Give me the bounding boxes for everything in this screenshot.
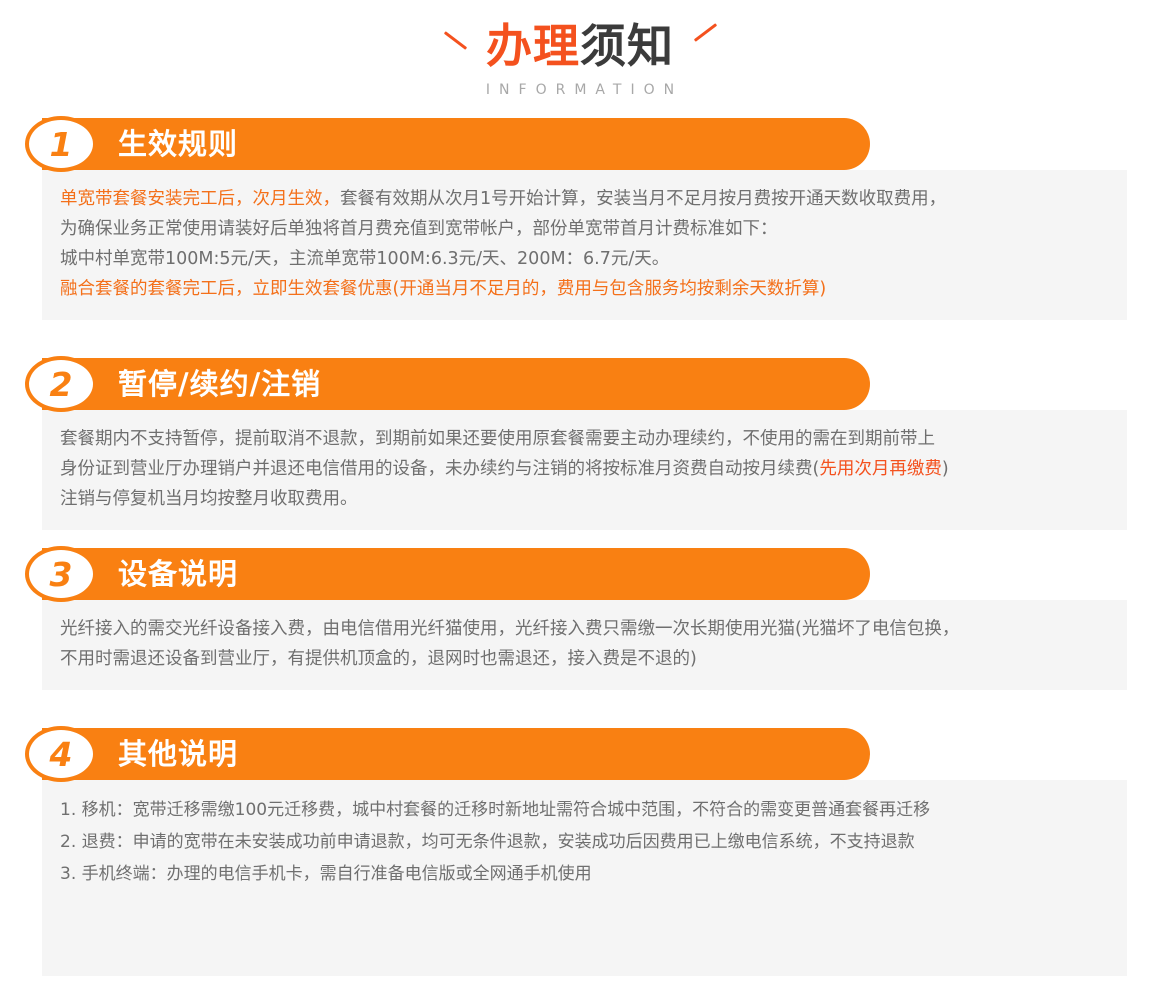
- section-gap: [0, 690, 1160, 728]
- body-line: 1. 移机：宽带迁移需缴100元迁移费，城中村套餐的迁移时新地址需符合城中范围，…: [60, 794, 1109, 826]
- section-body: 光纤接入的需交光纤设备接入费，由电信借用光纤猫使用，光纤接入费只需缴一次长期使用…: [42, 600, 1127, 690]
- body-line: 注销与停复机当月均按整月收取费用。: [60, 484, 1109, 514]
- body-text: 注销与停复机当月均按整月收取费用。: [60, 489, 358, 509]
- body-text: 光纤接入的需交光纤设备接入费，由电信借用光纤猫使用，光纤接入费只需缴一次长期使用…: [60, 619, 959, 639]
- body-text: ): [942, 459, 949, 479]
- section-gap: [0, 530, 1160, 548]
- body-text-highlight: 融合套餐的套餐完工后，立即生效套餐优惠(开通当月不足月的，费用与包含服务均按剩余…: [60, 279, 826, 299]
- slash-right-icon: [688, 29, 722, 63]
- section-header-2: 2暂停/续约/注销: [0, 358, 1160, 410]
- body-line: 套餐期内不支持暂停，提前取消不退款，到期前如果还要使用原套餐需要主动办理续约，不…: [60, 424, 1109, 454]
- body-line: 3. 手机终端：办理的电信手机卡，需自行准备电信版或全网通手机使用: [60, 858, 1109, 890]
- body-text: 3. 手机终端：办理的电信手机卡，需自行准备电信版或全网通手机使用: [60, 864, 592, 884]
- section-header-3: 3设备说明: [0, 548, 1160, 600]
- section-body: 1. 移机：宽带迁移需缴100元迁移费，城中村套餐的迁移时新地址需符合城中范围，…: [42, 780, 1127, 976]
- section-4: 4其他说明1. 移机：宽带迁移需缴100元迁移费，城中村套餐的迁移时新地址需符合…: [0, 728, 1160, 976]
- section-number: 3: [50, 558, 73, 591]
- section-number: 2: [50, 368, 73, 401]
- body-line: 单宽带套餐安装完工后，次月生效，套餐有效期从次月1号开始计算，安装当月不足月按月…: [60, 184, 1109, 214]
- body-line: 为确保业务正常使用请装好后单独将首月费充值到宽带帐户，部份单宽带首月计费标准如下…: [60, 214, 1109, 244]
- section-gap: [0, 320, 1160, 358]
- section-2: 2暂停/续约/注销套餐期内不支持暂停，提前取消不退款，到期前如果还要使用原套餐需…: [0, 358, 1160, 530]
- body-line: 光纤接入的需交光纤设备接入费，由电信借用光纤猫使用，光纤接入费只需缴一次长期使用…: [60, 614, 1109, 644]
- section-header-4: 4其他说明: [0, 728, 1160, 780]
- section-header-1: 1生效规则: [0, 118, 1160, 170]
- body-text-highlight: 先用次月再缴费: [819, 459, 942, 479]
- body-text: 套餐有效期从次月1号开始计算，安装当月不足月按月费按开通天数收取费用，: [340, 189, 946, 209]
- section-body: 单宽带套餐安装完工后，次月生效，套餐有效期从次月1号开始计算，安装当月不足月按月…: [42, 170, 1127, 320]
- page-title: 办理须知: [486, 18, 674, 74]
- section-1: 1生效规则单宽带套餐安装完工后，次月生效，套餐有效期从次月1号开始计算，安装当月…: [0, 118, 1160, 320]
- section-number-badge: 4: [25, 726, 97, 782]
- section-number: 4: [50, 738, 73, 771]
- page-title-block: 办理须知 INFORMATION: [0, 0, 1160, 98]
- body-text: 为确保业务正常使用请装好后单独将首月费充值到宽带帐户，部份单宽带首月计费标准如下…: [60, 219, 778, 239]
- section-title: 其他说明: [118, 728, 238, 780]
- page-title-accent: 办理: [486, 19, 580, 73]
- section-title: 生效规则: [118, 118, 238, 170]
- body-text: 套餐期内不支持暂停，提前取消不退款，到期前如果还要使用原套餐需要主动办理续约，不…: [60, 429, 935, 449]
- body-text: 城中村单宽带100M:5元/天，主流单宽带100M:6.3元/天、200M：6.…: [60, 249, 669, 269]
- section-3: 3设备说明光纤接入的需交光纤设备接入费，由电信借用光纤猫使用，光纤接入费只需缴一…: [0, 548, 1160, 690]
- title-row: 办理须知: [0, 16, 1160, 76]
- body-text: 2. 退费：申请的宽带在未安装成功前申请退款，均可无条件退款，安装成功后因费用已…: [60, 832, 915, 852]
- body-text: 不用时需退还设备到营业厅，有提供机顶盒的，退网时也需退还，接入费是不退的): [60, 649, 697, 669]
- page-subtitle: INFORMATION: [0, 82, 1160, 98]
- section-number: 1: [50, 128, 73, 161]
- section-body: 套餐期内不支持暂停，提前取消不退款，到期前如果还要使用原套餐需要主动办理续约，不…: [42, 410, 1127, 530]
- page-title-rest: 须知: [580, 19, 674, 73]
- section-number-badge: 2: [25, 356, 97, 412]
- body-line: 不用时需退还设备到营业厅，有提供机顶盒的，退网时也需退还，接入费是不退的): [60, 644, 1109, 674]
- section-number-badge: 3: [25, 546, 97, 602]
- section-number-badge: 1: [25, 116, 97, 172]
- body-line: 2. 退费：申请的宽带在未安装成功前申请退款，均可无条件退款，安装成功后因费用已…: [60, 826, 1109, 858]
- slash-left-icon: [438, 29, 472, 63]
- sections-container: 1生效规则单宽带套餐安装完工后，次月生效，套餐有效期从次月1号开始计算，安装当月…: [0, 118, 1160, 976]
- body-text: 1. 移机：宽带迁移需缴100元迁移费，城中村套餐的迁移时新地址需符合城中范围，…: [60, 800, 930, 820]
- body-line: 城中村单宽带100M:5元/天，主流单宽带100M:6.3元/天、200M：6.…: [60, 244, 1109, 274]
- section-title: 设备说明: [118, 548, 238, 600]
- body-line: 身份证到营业厅办理销户并退还电信借用的设备，未办续约与注销的将按标准月资费自动按…: [60, 454, 1109, 484]
- body-text: 身份证到营业厅办理销户并退还电信借用的设备，未办续约与注销的将按标准月资费自动按…: [60, 459, 819, 479]
- section-title: 暂停/续约/注销: [118, 358, 321, 410]
- body-line: 融合套餐的套餐完工后，立即生效套餐优惠(开通当月不足月的，费用与包含服务均按剩余…: [60, 274, 1109, 304]
- body-text-highlight: 单宽带套餐安装完工后，次月生效，: [60, 189, 340, 209]
